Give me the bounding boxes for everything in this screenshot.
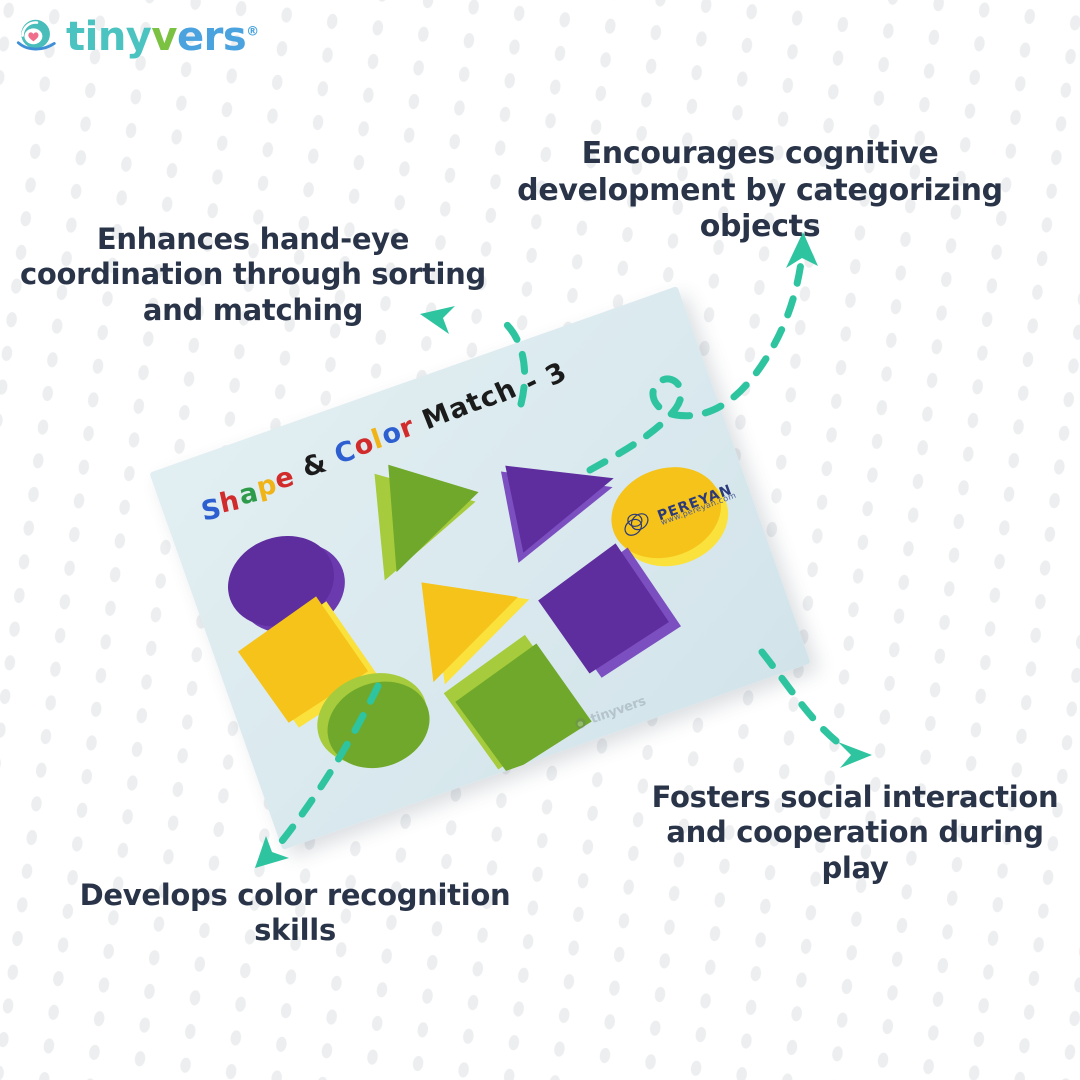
brand-word-ers: ers — [177, 14, 246, 60]
brand-logo[interactable]: tinyvers® — [14, 14, 259, 60]
caption-hand-eye-coordination: Enhances hand-eye coordination through s… — [8, 222, 498, 328]
registered-mark: ® — [246, 25, 259, 40]
caption-color-recognition: Develops color recognition skills — [60, 878, 530, 949]
caption-social-interaction: Fosters social interaction and cooperati… — [640, 780, 1070, 886]
baby-swirl-icon — [14, 14, 60, 60]
shape-grid — [209, 374, 776, 810]
caption-cognitive-development: Encourages cognitive development by cate… — [470, 136, 1050, 246]
infographic-canvas: tinyvers® Encourages cognitive developme… — [0, 0, 1080, 1080]
product-card-photo[interactable]: Shape & Color Match - 3 — [200, 368, 840, 838]
brand-wordmark: tinyvers® — [66, 17, 259, 57]
brand-word-tiny: tiny — [66, 14, 151, 60]
shape-color-match-board[interactable]: Shape & Color Match - 3 — [149, 286, 810, 850]
brand-word-v: v — [151, 14, 177, 60]
